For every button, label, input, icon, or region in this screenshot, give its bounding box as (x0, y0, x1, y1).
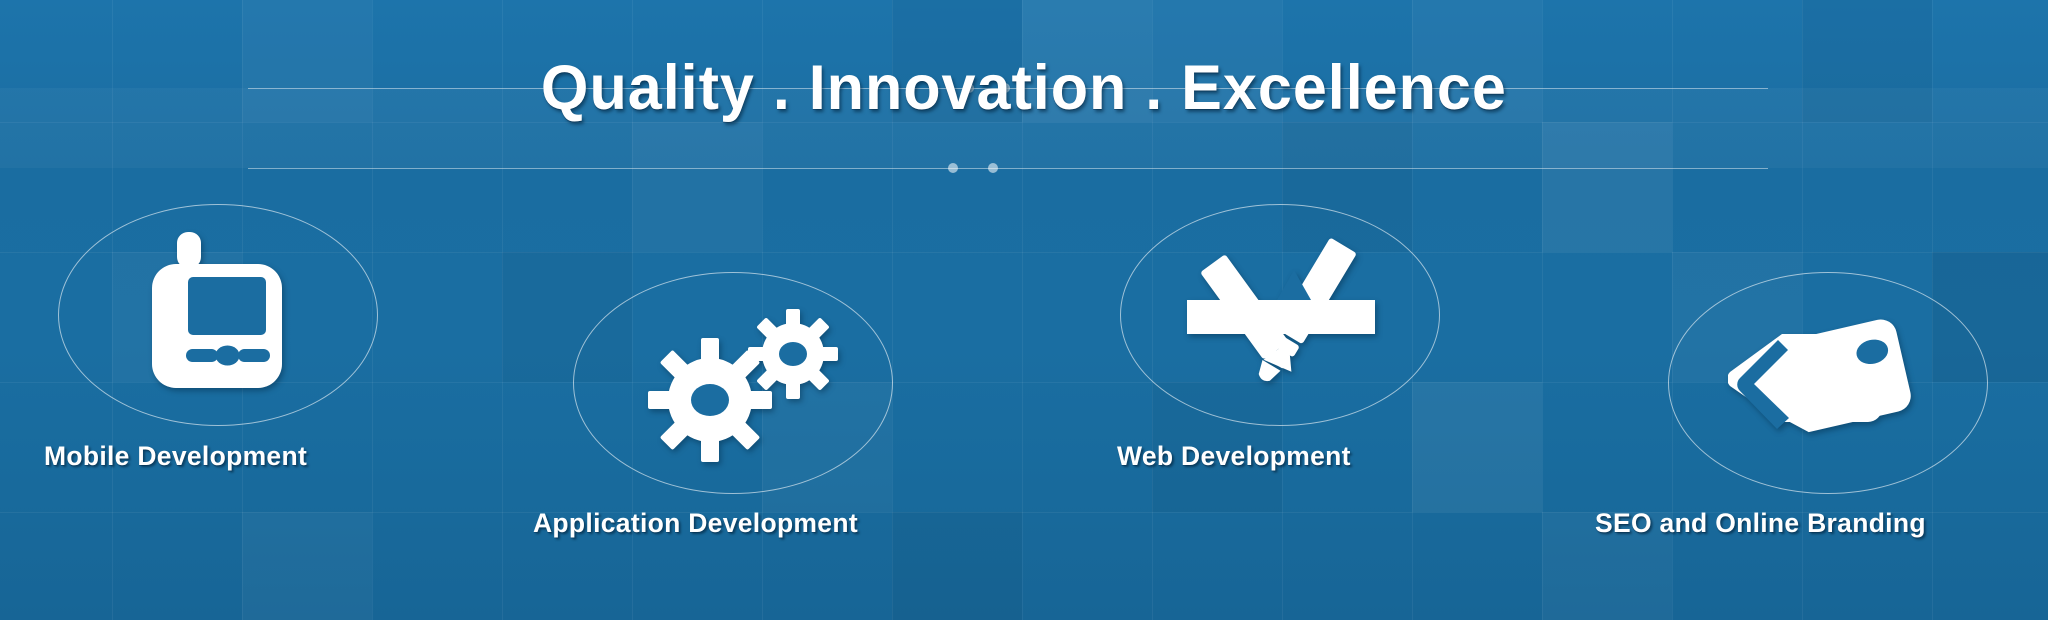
services-banner: Quality . Innovation . Excellence Mob (0, 0, 2048, 620)
headline-container: Quality . Innovation . Excellence (0, 52, 2048, 124)
pencil-brush-appstore-icon (1181, 238, 1381, 388)
page-title: Quality . Innovation . Excellence (541, 52, 1507, 124)
service-label: Application Development (533, 508, 858, 539)
service-label: SEO and Online Branding (1595, 508, 1926, 539)
mobile-phone-icon (148, 232, 288, 392)
decorative-rule-bottom (248, 168, 1768, 169)
decorative-dot (988, 163, 998, 173)
decorative-dot (948, 163, 958, 173)
price-tags-icon (1728, 318, 1938, 448)
gears-icon (637, 302, 847, 462)
service-label: Mobile Development (44, 441, 307, 472)
service-label: Web Development (1117, 441, 1351, 472)
